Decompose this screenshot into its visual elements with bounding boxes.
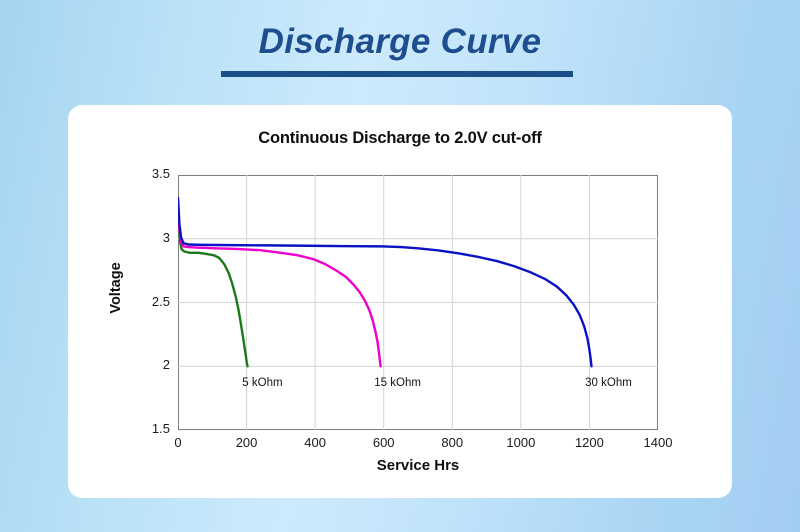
page-header: Discharge Curve <box>0 0 800 100</box>
plot-canvas <box>178 175 658 430</box>
y-axis-tick-label: 3 <box>126 230 170 245</box>
x-axis-tick-label: 600 <box>354 435 414 450</box>
page-title: Discharge Curve <box>0 22 800 62</box>
series-line <box>178 201 248 367</box>
title-underline-bar <box>221 71 573 77</box>
x-axis-label: Service Hrs <box>178 457 658 474</box>
series-annotation-label: 15 kOhm <box>374 377 421 389</box>
series-line <box>178 201 381 367</box>
x-axis-tick-label: 0 <box>148 435 208 450</box>
x-axis-tick-label: 1000 <box>491 435 551 450</box>
y-axis-label: Voltage <box>108 233 124 343</box>
x-axis-tick-label: 400 <box>285 435 345 450</box>
series-annotation-label: 5 kOhm <box>242 377 282 389</box>
chart-card: Continuous Discharge to 2.0V cut-off Vol… <box>68 105 732 498</box>
y-axis-tick-label: 3.5 <box>126 166 170 181</box>
x-axis-tick-label: 1200 <box>559 435 619 450</box>
y-axis-tick-label: 2.5 <box>126 294 170 309</box>
x-axis-tick-label: 800 <box>422 435 482 450</box>
series-line <box>178 198 591 366</box>
x-axis-tick-label: 1400 <box>628 435 688 450</box>
page-root: Discharge Curve Continuous Discharge to … <box>0 0 800 532</box>
discharge-curve-chart: Voltage Service Hrs 1.522.533.5 02004006… <box>68 105 732 498</box>
x-axis-tick-label: 200 <box>217 435 277 450</box>
y-axis-tick-label: 2 <box>126 357 170 372</box>
series-annotation-label: 30 kOhm <box>585 377 632 389</box>
y-axis-tick-label: 1.5 <box>126 421 170 436</box>
